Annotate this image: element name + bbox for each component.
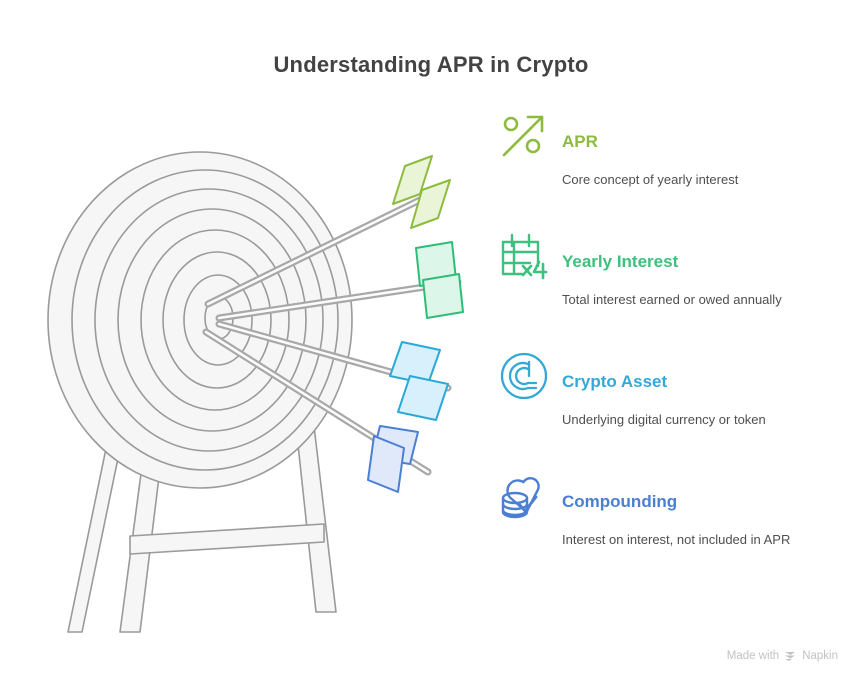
- list-item-crypto-asset[interactable]: Crypto Asset Underlying digital currency…: [498, 350, 848, 470]
- footer-brand-name: Napkin: [802, 650, 838, 662]
- list-item-compounding[interactable]: Compounding Interest on interest, not in…: [498, 470, 848, 590]
- list-item-apr[interactable]: APR Core concept of yearly interest: [498, 110, 848, 230]
- arrow-ca-fletching-lower: [398, 376, 448, 420]
- list-item-description: Interest on interest, not included in AP…: [562, 532, 790, 549]
- easel-leg-right: [296, 426, 336, 612]
- list-item-label: APR: [562, 133, 598, 150]
- target-svg: [28, 120, 478, 640]
- footer-attribution[interactable]: Made with Napkin: [727, 649, 838, 662]
- percent-arrow-up-icon: [498, 110, 550, 162]
- list-item-label: Compounding: [562, 493, 677, 510]
- list-item-yearly-interest[interactable]: Yearly Interest Total interest earned or…: [498, 230, 848, 350]
- page-title: Understanding APR in Crypto: [0, 52, 862, 78]
- list-item-label: Crypto Asset: [562, 373, 667, 390]
- easel-crossbar: [130, 524, 324, 554]
- illustration-target-archery: [28, 120, 478, 640]
- crypto-coin-icon: [498, 350, 550, 402]
- list-item-label: Yearly Interest: [562, 253, 678, 270]
- heart-coin-stack-icon: [498, 470, 550, 522]
- napkin-logo-icon: [784, 649, 797, 662]
- arrow-yi-fletching-lower: [423, 274, 463, 318]
- list-item-description: Underlying digital currency or token: [562, 412, 766, 429]
- calendar-times-four-icon: [498, 230, 550, 282]
- concept-list: APR Core concept of yearly interest: [498, 110, 848, 590]
- target-rings: [48, 152, 352, 488]
- footer-made-with-text: Made with: [727, 650, 779, 662]
- list-item-description: Total interest earned or owed annually: [562, 292, 782, 309]
- list-item-description: Core concept of yearly interest: [562, 172, 738, 189]
